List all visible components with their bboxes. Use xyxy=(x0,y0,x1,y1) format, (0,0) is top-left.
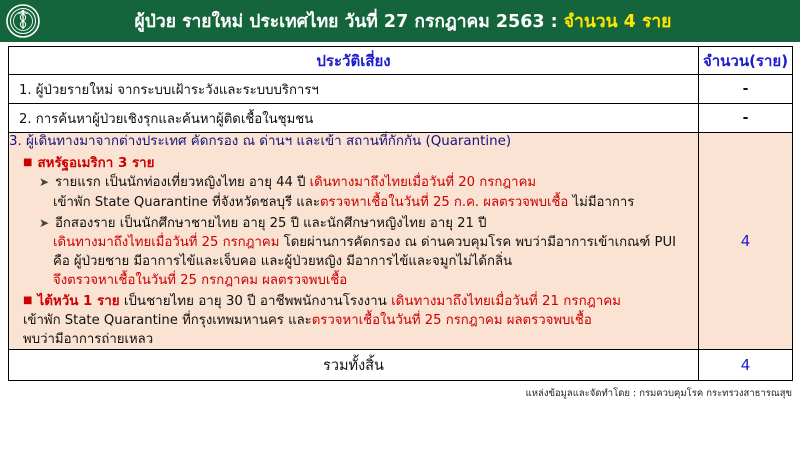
list-item-continuation: พบว่ามีอาการถ่ายเหลว xyxy=(23,331,698,350)
risk-history-table: ประวัติเสี่ยง จำนวน(ราย) 1. ผู้ป่วยรายให… xyxy=(8,46,793,381)
section-3-content: 3. ผู้เดินทางมาจากต่างประเทศ คัดกรอง ณ ด… xyxy=(9,133,699,350)
usa-case2-line4-red: จึงตรวจหาเชื้อในวันที่ 25 กรกฎาคม ผลตรวจ… xyxy=(53,273,347,288)
list-item-continuation: เดินทางมาถึงไทยเมื่อวันที่ 25 กรกฎาคม โด… xyxy=(53,234,698,253)
page-title: ผู้ป่วย รายใหม่ ประเทศไทย วันที่ 27 กรกฎ… xyxy=(46,7,800,35)
usa-case1-line2-red: ตรวจหาเชื้อในวันที่ 25 ก.ค. ผลตรวจพบเชื้… xyxy=(320,195,568,210)
taiwan-line3: พบว่ามีอาการถ่ายเหลว xyxy=(23,332,153,347)
taiwan-line2-red: ตรวจหาเชื้อในวันที่ 25 กรกฎาคม ผลตรวจพบเ… xyxy=(312,313,592,328)
country-bullet-usa: ■สหรัฐอเมริกา 3 ราย xyxy=(23,155,698,172)
row-1-value: - xyxy=(699,75,793,104)
page-footer: แหล่งข้อมูลและจัดทำโดย : กรมควบคุมโรค กร… xyxy=(8,386,792,401)
square-bullet-icon: ■ xyxy=(23,157,32,168)
table-row: 1. ผู้ป่วยรายใหม่ จากระบบเฝ้าระวังและระบ… xyxy=(9,75,793,104)
list-item-continuation: จึงตรวจหาเชื้อในวันที่ 25 กรกฎาคม ผลตรวจ… xyxy=(53,272,698,291)
taiwan-line1-black: เป็นชายไทย อายุ 30 ปี อาชีพพนักงานโรงงาน xyxy=(120,294,392,309)
arrow-bullet-icon: ➤ xyxy=(39,174,49,191)
arrow-bullet-icon: ➤ xyxy=(39,215,49,232)
row-1-label: 1. ผู้ป่วยรายใหม่ จากระบบเฝ้าระวังและระบ… xyxy=(9,75,699,104)
usa-case2-line2-red: เดินทางมาถึงไทยเมื่อวันที่ 25 กรกฎาคม xyxy=(53,235,279,250)
square-bullet-icon: ■ xyxy=(23,295,32,306)
table-header-row: ประวัติเสี่ยง จำนวน(ราย) xyxy=(9,47,793,75)
total-label: รวมทั้งสิ้น xyxy=(9,350,699,381)
list-item-continuation: คือ ผู้ป่วยชาย มีอาการไข้และเจ็บคอ และผู… xyxy=(53,253,698,272)
country-usa-label: สหรัฐอเมริกา 3 ราย xyxy=(37,156,154,171)
page-title-count: จำนวน 4 ราย xyxy=(564,12,672,32)
total-value: 4 xyxy=(699,350,793,381)
country-bullet-taiwan: ■ไต้หวัน 1 ราย เป็นชายไทย อายุ 30 ปี อาช… xyxy=(23,293,698,310)
table-header: ประวัติเสี่ยง จำนวน(ราย) xyxy=(9,47,793,75)
usa-case1-line1-black: รายแรก เป็นนักท่องเที่ยวหญิงไทย อายุ 44 … xyxy=(55,175,310,190)
page-header: ผู้ป่วย รายใหม่ ประเทศไทย วันที่ 27 กรกฎ… xyxy=(0,0,800,42)
usa-case2-line2-black: โดยผ่านการคัดกรอง ณ ด่านควบคุมโรค พบว่าม… xyxy=(279,235,676,250)
page-title-main: ผู้ป่วย รายใหม่ ประเทศไทย วันที่ 27 กรกฎ… xyxy=(135,12,564,32)
column-header-risk: ประวัติเสี่ยง xyxy=(9,47,699,75)
list-item-continuation: เข้าพัก State Quarantine ที่กรุงเทพมหานค… xyxy=(23,312,698,331)
table-body: 1. ผู้ป่วยรายใหม่ จากระบบเฝ้าระวังและระบ… xyxy=(9,75,793,381)
list-item: ➤ อีกสองราย เป็นนักศึกษาชายไทย อายุ 25 ป… xyxy=(39,215,698,234)
usa-case1-line2-black1: เข้าพัก State Quarantine ที่จังหวัดชลบุร… xyxy=(53,195,320,210)
table-row: 2. การค้นหาผู้ป่วยเชิงรุกและค้นหาผู้ติดเ… xyxy=(9,104,793,133)
list-item-continuation: เข้าพัก State Quarantine ที่จังหวัดชลบุร… xyxy=(53,194,698,213)
country-taiwan-label: ไต้หวัน 1 ราย xyxy=(37,294,119,309)
table-row-total: รวมทั้งสิ้น 4 xyxy=(9,350,793,381)
section-3-value: 4 xyxy=(699,133,793,350)
taiwan-line2-black1: เข้าพัก State Quarantine ที่กรุงเทพมหานค… xyxy=(23,313,312,328)
ministry-of-public-health-emblem-icon xyxy=(6,4,40,38)
ministry-logo xyxy=(0,0,46,42)
row-2-value: - xyxy=(699,104,793,133)
usa-case1-line2-black2: ไม่มีอาการ xyxy=(568,195,634,210)
row-2-label: 2. การค้นหาผู้ป่วยเชิงรุกและค้นหาผู้ติดเ… xyxy=(9,104,699,133)
usa-case2-line3: คือ ผู้ป่วยชาย มีอาการไข้และเจ็บคอ และผู… xyxy=(53,254,512,269)
section-3-title: 3. ผู้เดินทางมาจากต่างประเทศ คัดกรอง ณ ด… xyxy=(9,134,698,151)
report-table-container: ประวัติเสี่ยง จำนวน(ราย) 1. ผู้ป่วยรายให… xyxy=(0,42,800,381)
column-header-number: จำนวน(ราย) xyxy=(699,47,793,75)
table-row-section-3: 3. ผู้เดินทางมาจากต่างประเทศ คัดกรอง ณ ด… xyxy=(9,133,793,350)
usa-case1-line1-red: เดินทางมาถึงไทยเมื่อวันที่ 20 กรกฎาคม xyxy=(310,175,536,190)
usa-case2-line1: อีกสองราย เป็นนักศึกษาชายไทย อายุ 25 ปี … xyxy=(55,216,487,231)
list-item: ➤ รายแรก เป็นนักท่องเที่ยวหญิงไทย อายุ 4… xyxy=(39,174,698,193)
taiwan-line1-red: เดินทางมาถึงไทยเมื่อวันที่ 21 กรกฎาคม xyxy=(391,294,621,309)
